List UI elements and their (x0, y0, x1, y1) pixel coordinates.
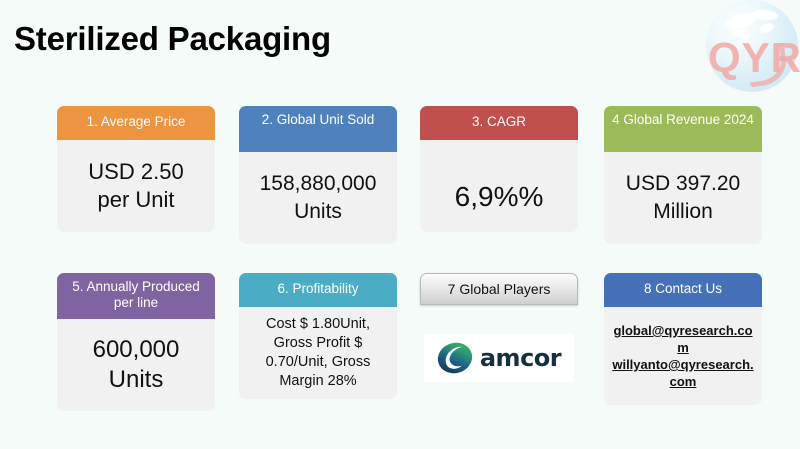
card-average-price: 1. Average Price USD 2.50 per Unit (57, 106, 215, 232)
card-value-profitability: Cost $ 1.80Unit, Gross Profit $ 0.70/Uni… (239, 315, 397, 391)
qyr-logo: QYR (700, 0, 800, 98)
card-value-line1: USD 397.20 (604, 170, 762, 198)
card-header-average-price: 1. Average Price (57, 106, 215, 140)
card-value-line1: 158,880,000 (239, 170, 397, 198)
qyr-logo-text: QYR (708, 34, 800, 82)
globe-continent-shape (759, 22, 775, 34)
globe-continent-shape (733, 28, 751, 42)
card-value-line1: 6,9%% (420, 182, 578, 212)
card-body-profitability: Cost $ 1.80Unit, Gross Profit $ 0.70/Uni… (239, 307, 397, 399)
card-cagr: 3. CAGR 6,9%% (420, 106, 578, 232)
amcor-logo: amcor (424, 334, 574, 382)
card-global-unit-sold: 2. Global Unit Sold 158,880,000 Units (239, 106, 397, 244)
globe-continent-shape (751, 8, 778, 22)
card-value-line1: 600,000 (57, 335, 215, 365)
page-title: Sterilized Packaging (14, 20, 331, 58)
card-annually-produced: 5. Annually Produced per line 600,000 Un… (57, 273, 215, 411)
card-body-contact-us: global@qyresearch.com willyanto@qyresear… (604, 307, 762, 405)
globe-continent-shape (725, 11, 757, 31)
card-value-line2: per Unit (57, 186, 215, 214)
card-header-global-revenue: 4 Global Revenue 2024 (604, 106, 762, 152)
qyr-logo-swoosh (746, 47, 789, 87)
card-global-revenue: 4 Global Revenue 2024 USD 397.20 Million (604, 106, 762, 244)
card-header-cagr: 3. CAGR (420, 106, 578, 140)
card-value-line2: Million (604, 198, 762, 226)
card-body-global-unit-sold: 158,880,000 Units (239, 152, 397, 244)
card-profitability: 6. Profitability Cost $ 1.80Unit, Gross … (239, 273, 397, 399)
card-value-line1: USD 2.50 (57, 158, 215, 186)
card-body-average-price: USD 2.50 per Unit (57, 140, 215, 232)
contact-email-willyanto[interactable]: willyanto@qyresearch.com (609, 356, 757, 390)
card-header-annually-produced: 5. Annually Produced per line (57, 273, 215, 319)
card-body-global-players: amcor (420, 315, 578, 401)
card-value-line2: Units (57, 365, 215, 395)
card-body-global-revenue: USD 397.20 Million (604, 152, 762, 244)
card-value-line2: Units (239, 198, 397, 226)
card-body-annually-produced: 600,000 Units (57, 319, 215, 411)
card-header-global-players: 7 Global Players (420, 273, 578, 305)
amcor-wordmark: amcor (480, 344, 561, 372)
card-header-profitability: 6. Profitability (239, 273, 397, 307)
card-header-global-unit-sold: 2. Global Unit Sold (239, 106, 397, 152)
card-contact-us: 8 Contact Us global@qyresearch.com willy… (604, 273, 762, 405)
card-header-contact-us: 8 Contact Us (604, 273, 762, 307)
contact-email-global[interactable]: global@qyresearch.com (609, 322, 757, 356)
card-global-players: 7 Global Players amcor (420, 273, 578, 401)
globe-icon (706, 0, 798, 92)
amcor-swirl-icon (437, 341, 473, 375)
card-body-cagr: 6,9%% (420, 140, 578, 232)
